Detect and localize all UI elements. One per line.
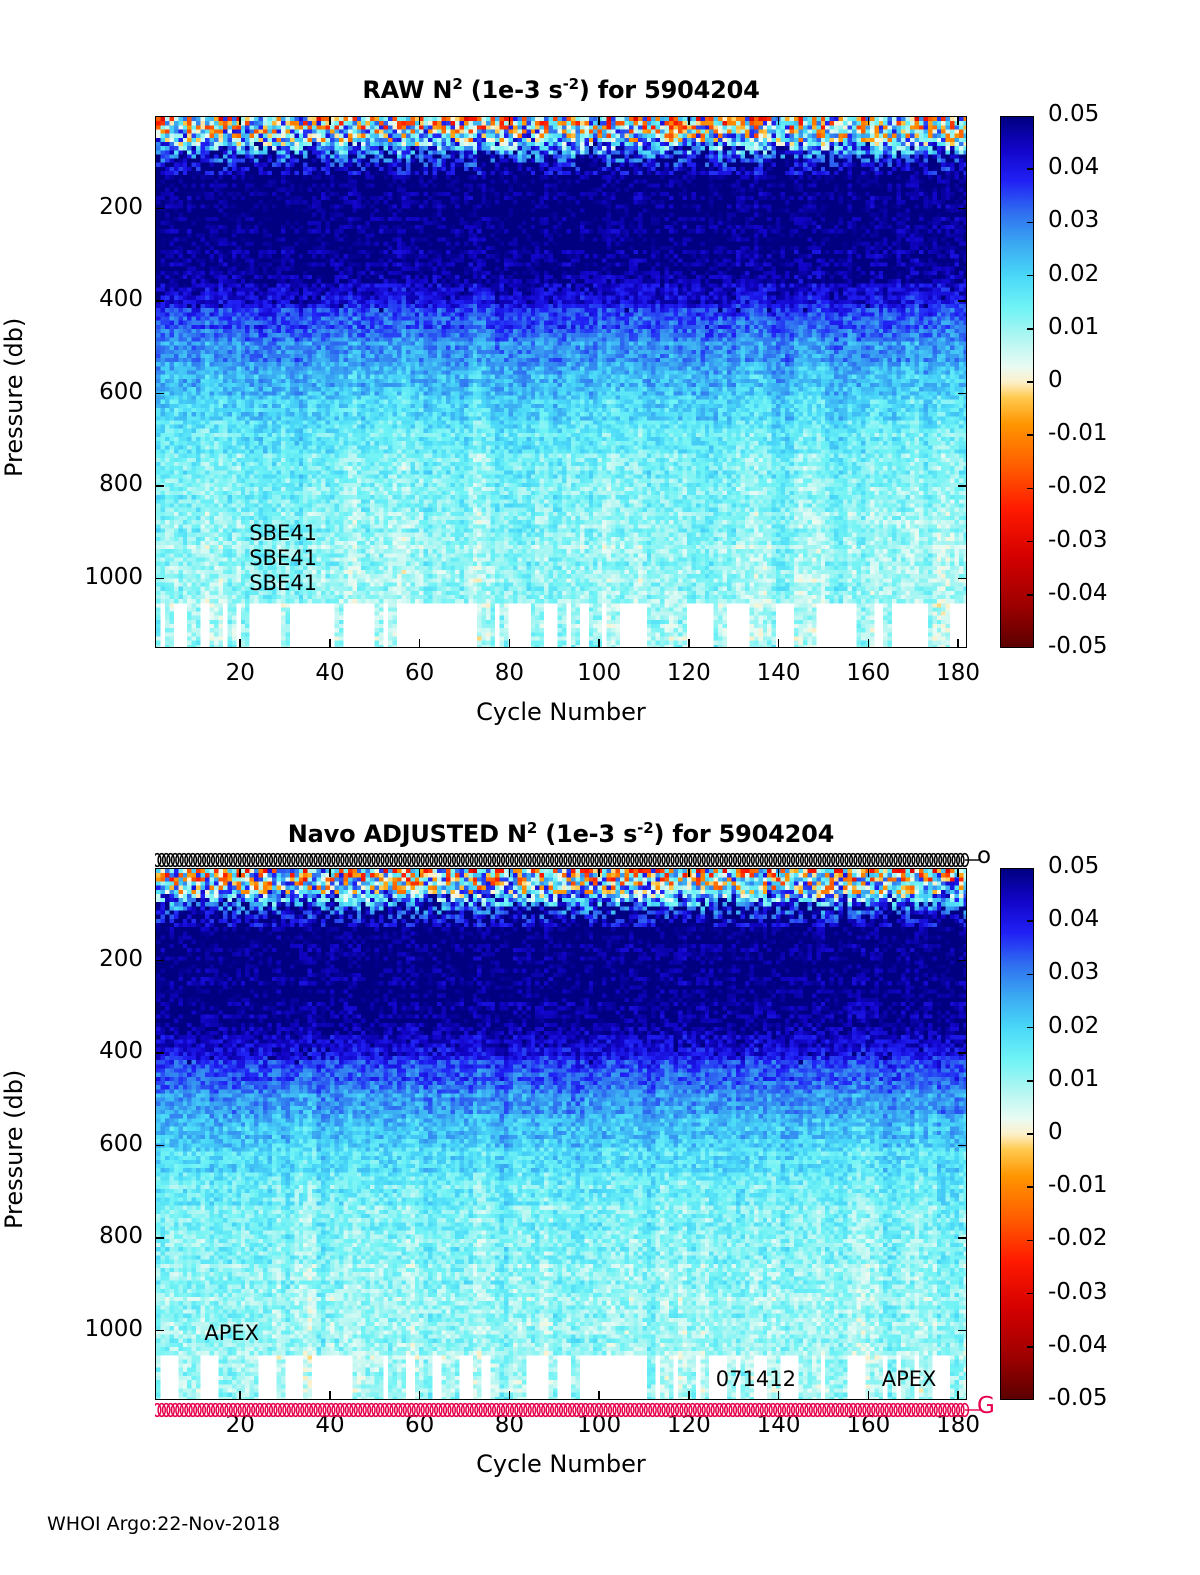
raw-ytick-label-200: 200 bbox=[13, 194, 143, 220]
raw-ytick-800 bbox=[155, 485, 164, 487]
adjusted-colorbar-tick-2 bbox=[1027, 974, 1034, 976]
adjusted-colorbar-tick-6 bbox=[1027, 1186, 1034, 1188]
adjusted-xtick-120 bbox=[688, 1391, 690, 1400]
raw-xtick-20 bbox=[239, 116, 241, 125]
raw-colorbar-label-6: -0.01 bbox=[1048, 420, 1108, 446]
adjusted-ytick-label-200: 200 bbox=[13, 946, 143, 972]
raw-xtick-60 bbox=[419, 116, 421, 125]
raw-xtick-60 bbox=[419, 639, 421, 648]
raw-xaxis-title: Cycle Number bbox=[155, 698, 967, 726]
adjusted-colorbar-label-3: 0.02 bbox=[1048, 1013, 1099, 1039]
raw-xtick-180 bbox=[957, 116, 959, 125]
adjusted-annotation-2: APEX bbox=[882, 1367, 937, 1391]
adjusted-title-sup2: -2 bbox=[637, 819, 653, 837]
adjusted-ytick-1000 bbox=[958, 1330, 967, 1332]
raw-annotation-0: SBE41 bbox=[249, 521, 317, 545]
raw-ytick-label-800: 800 bbox=[13, 471, 143, 497]
adjusted-ytick-1000 bbox=[155, 1330, 164, 1332]
adjusted-ytick-label-400: 400 bbox=[13, 1038, 143, 1064]
adjusted-xtick-160 bbox=[868, 868, 870, 877]
adjusted-xtick-180 bbox=[957, 868, 959, 877]
raw-colorbar-tick-8 bbox=[1027, 541, 1034, 543]
raw-colorbar-label-1: 0.04 bbox=[1048, 154, 1099, 180]
adjusted-colorbar-label-7: -0.02 bbox=[1048, 1225, 1108, 1251]
adjusted-colorbar-label-2: 0.03 bbox=[1048, 959, 1099, 985]
raw-ytick-600 bbox=[155, 393, 164, 395]
raw-title-post: ) for 5904204 bbox=[579, 76, 760, 104]
adjusted-xtick-180 bbox=[957, 1391, 959, 1400]
raw-xtick-label-140: 140 bbox=[734, 660, 824, 686]
adjusted-bottom-marker-row-label: G bbox=[977, 1393, 995, 1419]
adjusted-ytick-label-1000: 1000 bbox=[13, 1316, 143, 1342]
adjusted-heatmap bbox=[156, 869, 967, 1400]
adjusted-xtick-60 bbox=[419, 868, 421, 877]
adjusted-colorbar-label-1: 0.04 bbox=[1048, 906, 1099, 932]
adjusted-top-marker-row-label: o bbox=[977, 843, 991, 869]
raw-colorbar-label-4: 0.01 bbox=[1048, 314, 1099, 340]
raw-ytick-label-400: 400 bbox=[13, 286, 143, 312]
raw-colorbar-tick-4 bbox=[1027, 328, 1034, 330]
raw-xtick-label-100: 100 bbox=[554, 660, 644, 686]
adjusted-bottom-marker-row bbox=[155, 1402, 967, 1418]
adjusted-xtick-140 bbox=[778, 868, 780, 877]
raw-xtick-100 bbox=[598, 116, 600, 125]
raw-colorbar-tick-9 bbox=[1027, 594, 1034, 596]
raw-colorbar-label-9: -0.04 bbox=[1048, 580, 1108, 606]
raw-ytick-800 bbox=[958, 485, 967, 487]
raw-colorbar-label-7: -0.02 bbox=[1048, 473, 1108, 499]
raw-ytick-200 bbox=[958, 208, 967, 210]
adjusted-colorbar-label-4: 0.01 bbox=[1048, 1066, 1099, 1092]
raw-plot-title: RAW N2 (1e-3 s-2) for 5904204 bbox=[155, 76, 967, 104]
adjusted-colorbar-label-8: -0.03 bbox=[1048, 1279, 1108, 1305]
adjusted-annotation-0: APEX bbox=[204, 1321, 259, 1345]
adjusted-xtick-100 bbox=[598, 868, 600, 877]
raw-colorbar-label-0: 0.05 bbox=[1048, 101, 1099, 127]
adjusted-xtick-20 bbox=[239, 1391, 241, 1400]
raw-xtick-40 bbox=[329, 116, 331, 125]
adjusted-colorbar-tick-3 bbox=[1027, 1027, 1034, 1029]
raw-xtick-label-180: 180 bbox=[913, 660, 1003, 686]
adjusted-colorbar-tick-9 bbox=[1027, 1346, 1034, 1348]
adjusted-ytick-400 bbox=[155, 1052, 164, 1054]
adjusted-colorbar-tick-8 bbox=[1027, 1293, 1034, 1295]
adjusted-plot-title: Navo ADJUSTED N2 (1e-3 s-2) for 5904204 bbox=[155, 820, 967, 848]
adjusted-xtick-60 bbox=[419, 1391, 421, 1400]
raw-xtick-80 bbox=[509, 116, 511, 125]
adjusted-title-post: ) for 5904204 bbox=[653, 820, 834, 848]
adjusted-colorbar-tick-5 bbox=[1027, 1133, 1034, 1135]
adjusted-xtick-80 bbox=[509, 868, 511, 877]
adjusted-xtick-160 bbox=[868, 1391, 870, 1400]
raw-colorbar-tick-7 bbox=[1027, 488, 1034, 490]
adjusted-xtick-20 bbox=[239, 868, 241, 877]
raw-colorbar-label-8: -0.03 bbox=[1048, 527, 1108, 553]
raw-ytick-1000 bbox=[958, 578, 967, 580]
raw-xtick-40 bbox=[329, 639, 331, 648]
raw-title-sup1: 2 bbox=[452, 75, 462, 93]
adjusted-colorbar-tick-1 bbox=[1027, 920, 1034, 922]
raw-colorbar-label-3: 0.02 bbox=[1048, 261, 1099, 287]
raw-annotation-2: SBE41 bbox=[249, 571, 317, 595]
adjusted-ytick-800 bbox=[155, 1237, 164, 1239]
raw-xtick-80 bbox=[509, 639, 511, 648]
raw-xtick-20 bbox=[239, 639, 241, 648]
adjusted-top-marker-row bbox=[155, 852, 967, 868]
adjusted-annotation-1: 071412 bbox=[716, 1367, 796, 1391]
adjusted-xtick-40 bbox=[329, 868, 331, 877]
adjusted-ytick-800 bbox=[958, 1237, 967, 1239]
raw-xtick-160 bbox=[868, 116, 870, 125]
raw-xtick-label-120: 120 bbox=[644, 660, 734, 686]
figure-footer: WHOI Argo:22-Nov-2018 bbox=[47, 1513, 280, 1535]
adjusted-title-mid: (1e-3 s bbox=[537, 820, 637, 848]
adjusted-xtick-140 bbox=[778, 1391, 780, 1400]
raw-ytick-label-1000: 1000 bbox=[13, 564, 143, 590]
adjusted-title-sup1: 2 bbox=[527, 819, 537, 837]
adjusted-colorbar-label-0: 0.05 bbox=[1048, 853, 1099, 879]
raw-ytick-400 bbox=[958, 300, 967, 302]
raw-xtick-160 bbox=[868, 639, 870, 648]
adjusted-ytick-600 bbox=[155, 1145, 164, 1147]
adjusted-colorbar-tick-7 bbox=[1027, 1240, 1034, 1242]
raw-colorbar-tick-1 bbox=[1027, 168, 1034, 170]
adjusted-xtick-40 bbox=[329, 1391, 331, 1400]
raw-annotation-1: SBE41 bbox=[249, 546, 317, 570]
raw-ytick-label-600: 600 bbox=[13, 379, 143, 405]
raw-colorbar-label-10: -0.05 bbox=[1048, 633, 1108, 659]
adjusted-ytick-400 bbox=[958, 1052, 967, 1054]
adjusted-ytick-label-600: 600 bbox=[13, 1131, 143, 1157]
raw-colorbar-tick-5 bbox=[1027, 381, 1034, 383]
adjusted-colorbar-label-10: -0.05 bbox=[1048, 1385, 1108, 1411]
raw-colorbar-label-2: 0.03 bbox=[1048, 207, 1099, 233]
raw-title-mid: (1e-3 s bbox=[463, 76, 563, 104]
raw-xtick-120 bbox=[688, 639, 690, 648]
raw-ytick-1000 bbox=[155, 578, 164, 580]
adjusted-colorbar-tick-4 bbox=[1027, 1080, 1034, 1082]
adjusted-axes bbox=[155, 868, 967, 1400]
adjusted-xaxis-title: Cycle Number bbox=[155, 1450, 967, 1478]
adjusted-ytick-label-800: 800 bbox=[13, 1223, 143, 1249]
raw-xtick-120 bbox=[688, 116, 690, 125]
adjusted-ytick-200 bbox=[958, 960, 967, 962]
adjusted-xtick-100 bbox=[598, 1391, 600, 1400]
adjusted-xtick-80 bbox=[509, 1391, 511, 1400]
raw-title-sup2: -2 bbox=[563, 75, 579, 93]
raw-colorbar-tick-3 bbox=[1027, 275, 1034, 277]
raw-xtick-label-40: 40 bbox=[285, 660, 375, 686]
raw-xtick-140 bbox=[778, 116, 780, 125]
raw-xtick-label-160: 160 bbox=[823, 660, 913, 686]
adjusted-xtick-120 bbox=[688, 868, 690, 877]
adjusted-ytick-200 bbox=[155, 960, 164, 962]
raw-xtick-label-80: 80 bbox=[464, 660, 554, 686]
adjusted-title-pre: Navo ADJUSTED N bbox=[288, 820, 527, 848]
raw-xtick-100 bbox=[598, 639, 600, 648]
raw-ytick-200 bbox=[155, 208, 164, 210]
raw-xtick-180 bbox=[957, 639, 959, 648]
raw-ytick-600 bbox=[958, 393, 967, 395]
raw-title-pre: RAW N bbox=[362, 76, 452, 104]
raw-colorbar-tick-2 bbox=[1027, 222, 1034, 224]
adjusted-colorbar-label-5: 0 bbox=[1048, 1119, 1063, 1145]
raw-xtick-label-60: 60 bbox=[375, 660, 465, 686]
raw-xtick-label-20: 20 bbox=[195, 660, 285, 686]
raw-colorbar-label-5: 0 bbox=[1048, 367, 1063, 393]
raw-colorbar-tick-6 bbox=[1027, 434, 1034, 436]
adjusted-ytick-600 bbox=[958, 1145, 967, 1147]
raw-xtick-140 bbox=[778, 639, 780, 648]
adjusted-colorbar-label-9: -0.04 bbox=[1048, 1332, 1108, 1358]
raw-ytick-400 bbox=[155, 300, 164, 302]
adjusted-colorbar-label-6: -0.01 bbox=[1048, 1172, 1108, 1198]
